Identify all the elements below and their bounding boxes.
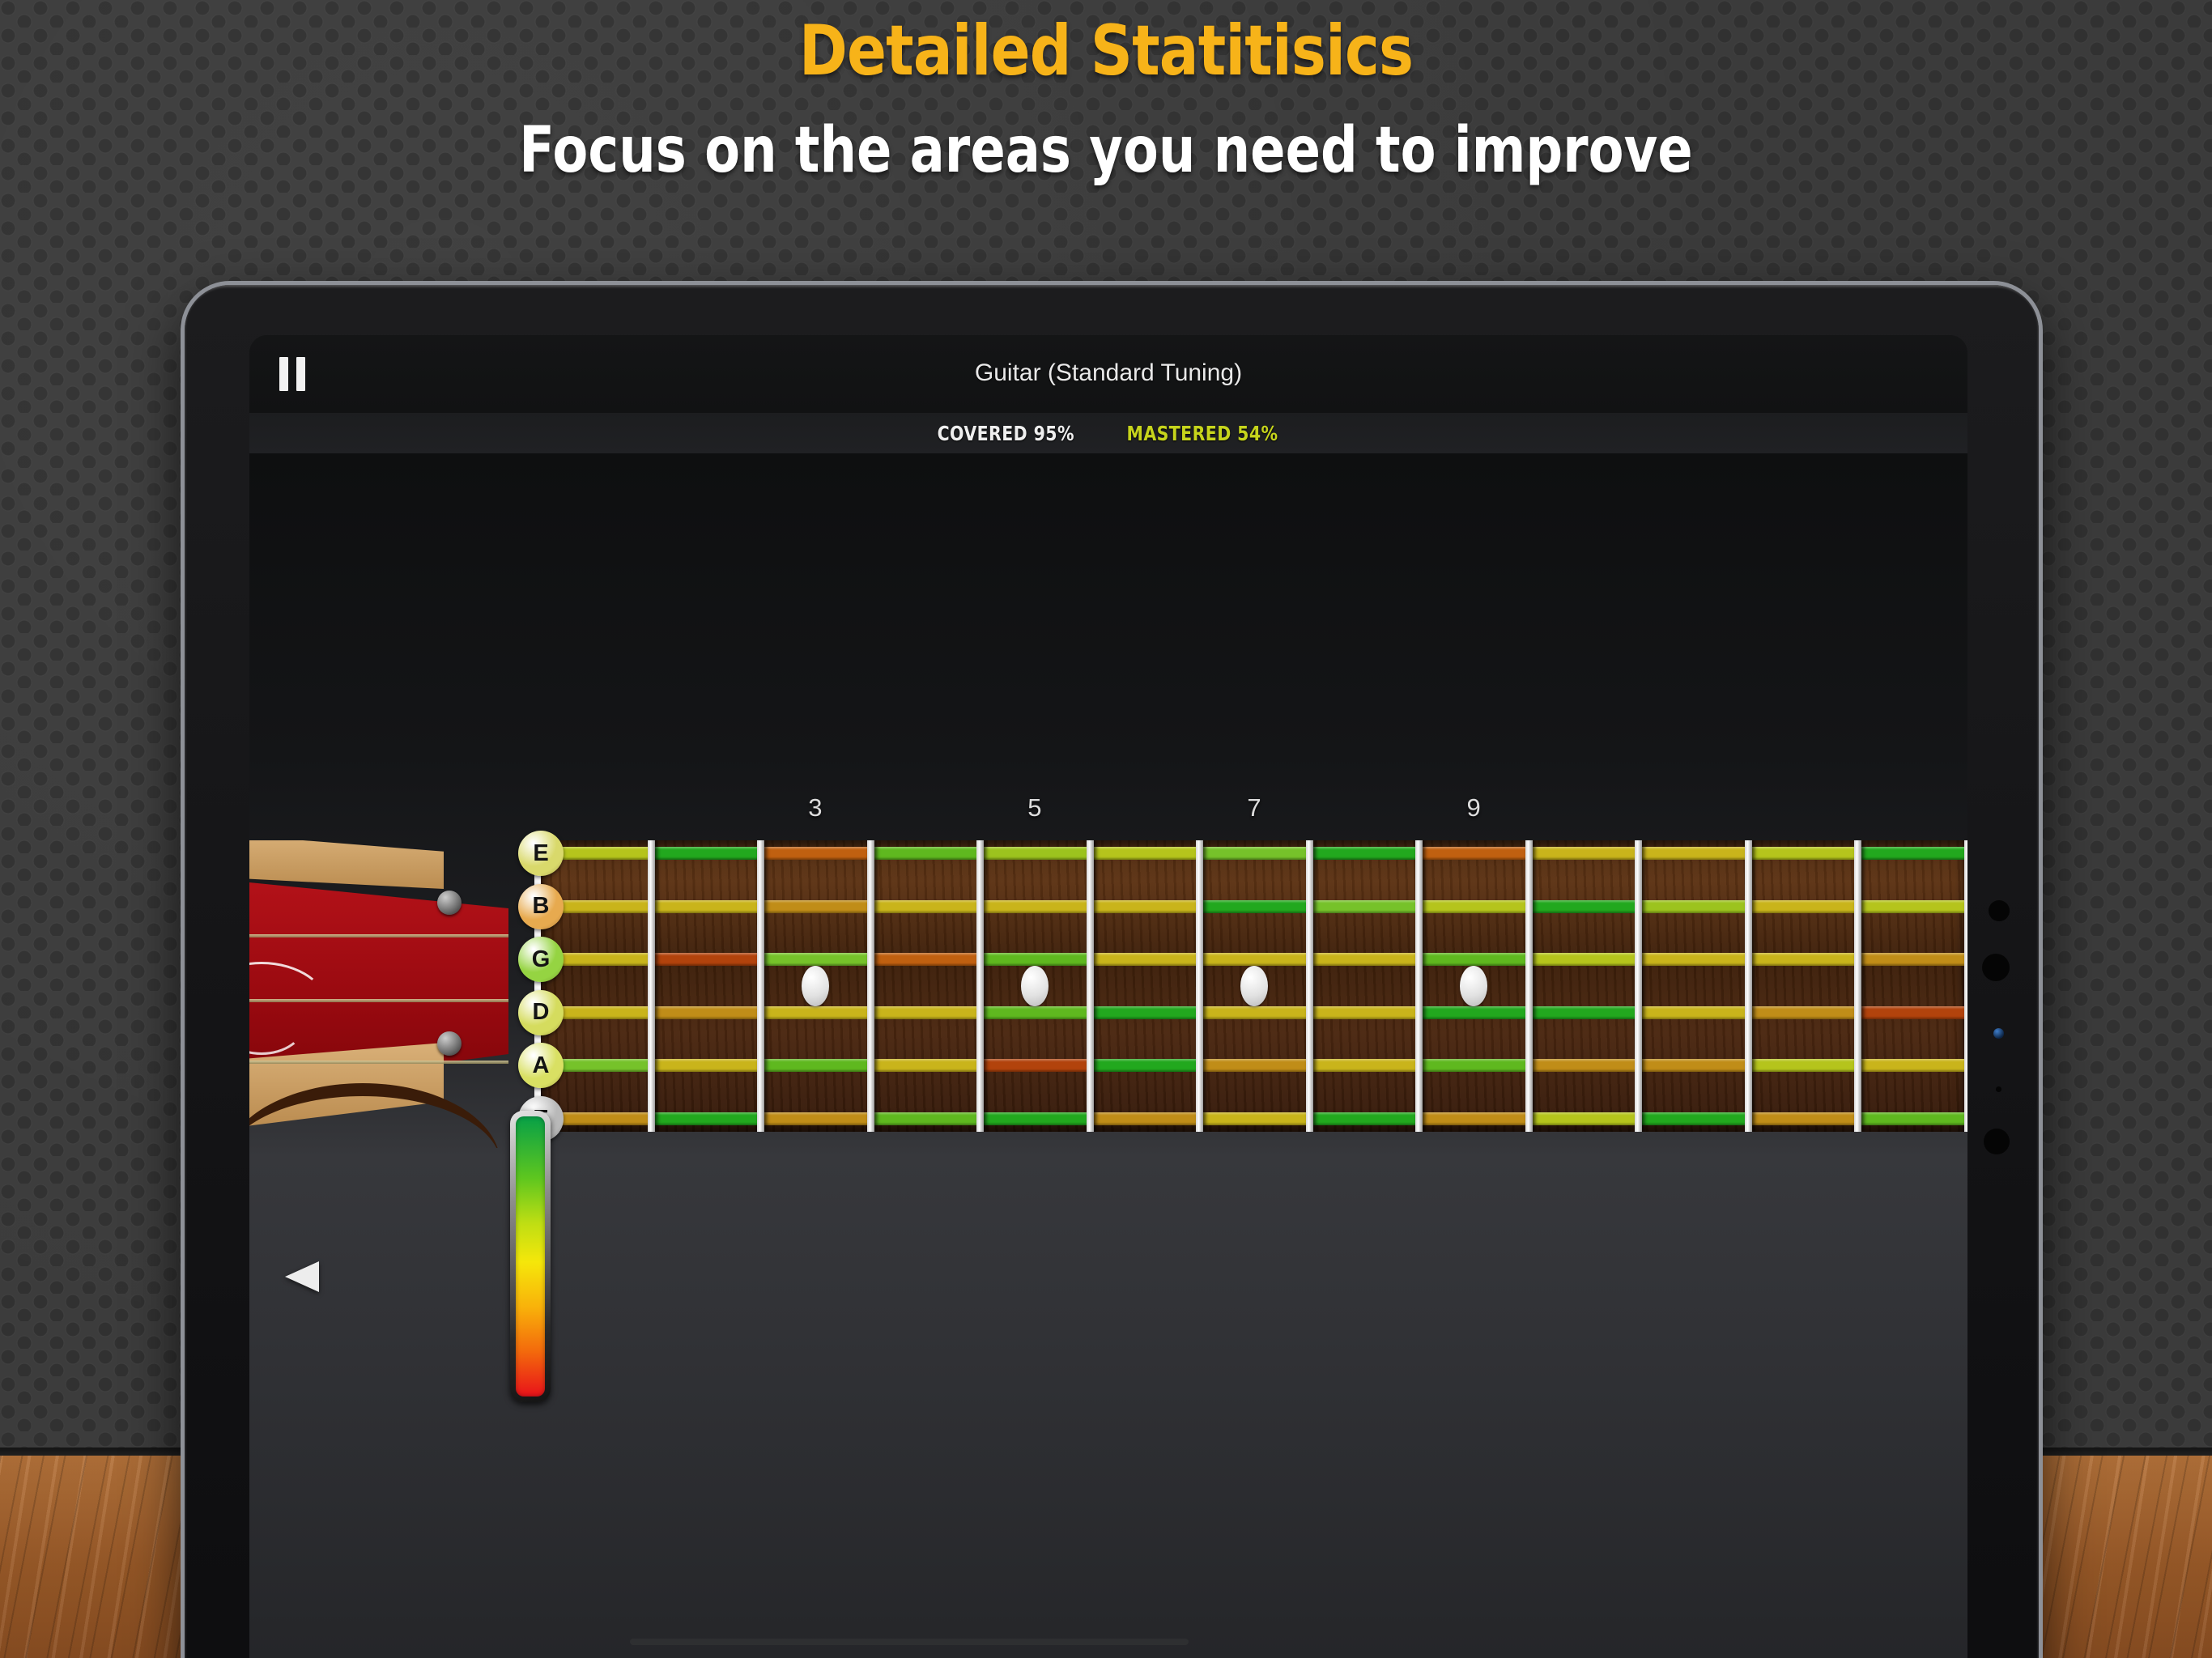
fret-cell[interactable] bbox=[1857, 1059, 1967, 1072]
app-title: Guitar (Standard Tuning) bbox=[249, 359, 1967, 387]
fret-cell[interactable] bbox=[1638, 1112, 1748, 1125]
fret-wire bbox=[1854, 840, 1861, 1132]
app-topbar: Guitar (Standard Tuning) bbox=[249, 335, 1967, 413]
string-note-bubble-3[interactable]: D bbox=[518, 990, 564, 1035]
fret-cell[interactable] bbox=[1199, 1059, 1309, 1072]
fret-cell[interactable] bbox=[1309, 1059, 1419, 1072]
fret-cell[interactable] bbox=[760, 1112, 870, 1125]
fret-cell[interactable] bbox=[760, 900, 870, 913]
page-subtitle: Focus on the areas you need to improve bbox=[199, 118, 2013, 185]
fret-cell[interactable] bbox=[1199, 1006, 1309, 1019]
fret-cell[interactable] bbox=[1748, 1059, 1858, 1072]
fret-cell[interactable] bbox=[1199, 847, 1309, 860]
fret-cell[interactable] bbox=[1529, 1059, 1639, 1072]
fret-cell[interactable] bbox=[1090, 1112, 1200, 1125]
fret-cell[interactable] bbox=[1199, 1112, 1309, 1125]
fret-cell[interactable] bbox=[980, 900, 1090, 913]
fret-cell[interactable] bbox=[1748, 953, 1858, 966]
string-note-bubble-1[interactable]: B bbox=[518, 884, 564, 929]
fret-cell[interactable] bbox=[1748, 1112, 1858, 1125]
marketing-headline: Detailed Statitisics Focus on the areas … bbox=[0, 15, 2212, 185]
fret-cell[interactable] bbox=[1638, 953, 1748, 966]
fret-cell[interactable] bbox=[870, 900, 981, 913]
fret-cell[interactable] bbox=[760, 953, 870, 966]
fret-cell[interactable] bbox=[1199, 900, 1309, 913]
string-row-e-5[interactable] bbox=[541, 1112, 1967, 1125]
fret-cell[interactable] bbox=[980, 953, 1090, 966]
accuracy-meter-pointer bbox=[285, 1261, 319, 1292]
fret-cell[interactable] bbox=[760, 847, 870, 860]
fret-cell[interactable] bbox=[1529, 1006, 1639, 1019]
fret-cell[interactable] bbox=[1090, 900, 1200, 913]
fret-cell[interactable] bbox=[1638, 1006, 1748, 1019]
fret-cell[interactable] bbox=[1309, 1112, 1419, 1125]
string-row-g-2[interactable] bbox=[541, 953, 1967, 966]
fret-cell[interactable] bbox=[651, 1059, 761, 1072]
fret-inlay-dot bbox=[1240, 966, 1268, 1006]
fret-cell[interactable] bbox=[1857, 1112, 1967, 1125]
app-screen: Guitar (Standard Tuning) COVERED 95% MAS… bbox=[249, 335, 1967, 1658]
fret-cell[interactable] bbox=[870, 1006, 981, 1019]
string-row-b-1[interactable] bbox=[541, 900, 1967, 913]
fret-cell[interactable] bbox=[1309, 953, 1419, 966]
fret-cell[interactable] bbox=[1419, 847, 1529, 860]
fret-cell[interactable] bbox=[1857, 900, 1967, 913]
fret-cell[interactable] bbox=[1638, 1059, 1748, 1072]
fret-cell[interactable] bbox=[1748, 900, 1858, 913]
headstock-string bbox=[249, 934, 508, 937]
fret-cell[interactable] bbox=[1090, 847, 1200, 860]
fret-cell[interactable] bbox=[1309, 1006, 1419, 1019]
headstock-string bbox=[249, 999, 508, 1002]
covered-stat: COVERED 95% bbox=[937, 422, 1074, 445]
fret-cell[interactable] bbox=[1419, 1112, 1529, 1125]
fret-inlay-dot bbox=[1021, 966, 1049, 1006]
tablet-device: Guitar (Standard Tuning) COVERED 95% MAS… bbox=[185, 285, 2039, 1658]
fret-cell[interactable] bbox=[1857, 1006, 1967, 1019]
tuning-peg bbox=[437, 891, 462, 915]
mastered-stat: MASTERED 54% bbox=[1127, 422, 1278, 445]
fret-cell[interactable] bbox=[1529, 900, 1639, 913]
fret-cell[interactable] bbox=[1419, 1059, 1529, 1072]
fret-cell[interactable] bbox=[651, 1112, 761, 1125]
speaker-hole-icon bbox=[1989, 900, 2010, 921]
string-note-bubble-0[interactable]: E bbox=[518, 831, 564, 876]
fret-number-strip: 3579 bbox=[249, 793, 1967, 840]
fret-cell[interactable] bbox=[1857, 847, 1967, 860]
fret-cell[interactable] bbox=[1090, 953, 1200, 966]
fret-cell[interactable] bbox=[1419, 953, 1529, 966]
fret-wire bbox=[757, 840, 764, 1132]
fret-cell[interactable] bbox=[1857, 953, 1967, 966]
string-note-bubble-4[interactable]: A bbox=[518, 1043, 564, 1088]
fret-cell[interactable] bbox=[651, 953, 761, 966]
fret-cell[interactable] bbox=[1529, 953, 1639, 966]
fret-inlay-dot bbox=[802, 966, 829, 1006]
fret-wire bbox=[1087, 840, 1094, 1132]
guitar-neck bbox=[541, 840, 1967, 1132]
string-row-a-4[interactable] bbox=[541, 1059, 1967, 1072]
fret-cell[interactable] bbox=[651, 900, 761, 913]
speaker-hole-icon bbox=[1984, 1129, 2010, 1154]
accuracy-meter-gradient bbox=[516, 1116, 545, 1397]
fret-cell[interactable] bbox=[980, 1006, 1090, 1019]
microphone-icon bbox=[1996, 1086, 2001, 1092]
fret-cell[interactable] bbox=[870, 953, 981, 966]
fret-number-3: 3 bbox=[808, 793, 822, 823]
fret-cell[interactable] bbox=[1638, 900, 1748, 913]
headstock-string bbox=[249, 1061, 508, 1064]
fret-cell[interactable] bbox=[1748, 847, 1858, 860]
fret-wire bbox=[648, 840, 655, 1132]
fret-wire bbox=[1745, 840, 1752, 1132]
fret-cell[interactable] bbox=[1199, 953, 1309, 966]
fret-cell[interactable] bbox=[760, 1059, 870, 1072]
fret-wire bbox=[1635, 840, 1642, 1132]
fret-cell[interactable] bbox=[1090, 1059, 1200, 1072]
fret-inlay-dot bbox=[1460, 966, 1487, 1006]
fret-wire bbox=[1196, 840, 1203, 1132]
accuracy-meter[interactable] bbox=[510, 1111, 551, 1402]
fret-wire bbox=[976, 840, 984, 1132]
fret-cell[interactable] bbox=[651, 847, 761, 860]
page-title: Detailed Statitisics bbox=[177, 15, 2035, 87]
string-row-e-0[interactable] bbox=[541, 847, 1967, 860]
fret-cell[interactable] bbox=[1309, 900, 1419, 913]
string-row-d-3[interactable] bbox=[541, 1006, 1967, 1019]
fret-cell[interactable] bbox=[1748, 1006, 1858, 1019]
fret-cell[interactable] bbox=[980, 847, 1090, 860]
fret-cell[interactable] bbox=[870, 1059, 981, 1072]
headstock-wood-upper bbox=[249, 840, 444, 889]
fret-cell[interactable] bbox=[1090, 1006, 1200, 1019]
tuning-peg bbox=[437, 1031, 462, 1056]
fret-cell[interactable] bbox=[1419, 900, 1529, 913]
fret-cell[interactable] bbox=[980, 1112, 1090, 1125]
fret-cell[interactable] bbox=[870, 1112, 981, 1125]
stats-bar: COVERED 95% MASTERED 54% bbox=[249, 413, 1967, 453]
fret-cell[interactable] bbox=[1529, 847, 1639, 860]
fret-cell[interactable] bbox=[980, 1059, 1090, 1072]
fretboard-stage: 3579 EBGDAE bbox=[249, 453, 1967, 1658]
fret-wire bbox=[1306, 840, 1313, 1132]
camera-lens-icon bbox=[1982, 954, 2010, 981]
fret-cell[interactable] bbox=[1419, 1006, 1529, 1019]
fret-wire bbox=[1525, 840, 1533, 1132]
fret-wire bbox=[1415, 840, 1423, 1132]
guitar-headstock bbox=[249, 840, 557, 1148]
fret-wire bbox=[867, 840, 874, 1132]
fret-cell[interactable] bbox=[1529, 1112, 1639, 1125]
fret-cell[interactable] bbox=[1309, 847, 1419, 860]
home-indicator bbox=[630, 1639, 1189, 1645]
fret-cell[interactable] bbox=[1638, 847, 1748, 860]
fret-number-7: 7 bbox=[1247, 793, 1261, 823]
sensor-icon bbox=[1993, 1028, 2004, 1039]
fret-cell[interactable] bbox=[760, 1006, 870, 1019]
fret-number-5: 5 bbox=[1027, 793, 1041, 823]
fret-wire bbox=[1964, 840, 1967, 1132]
fret-number-9: 9 bbox=[1466, 793, 1480, 823]
string-note-bubble-2[interactable]: G bbox=[518, 937, 564, 982]
fret-cell[interactable] bbox=[651, 1006, 761, 1019]
fret-cell[interactable] bbox=[870, 847, 981, 860]
